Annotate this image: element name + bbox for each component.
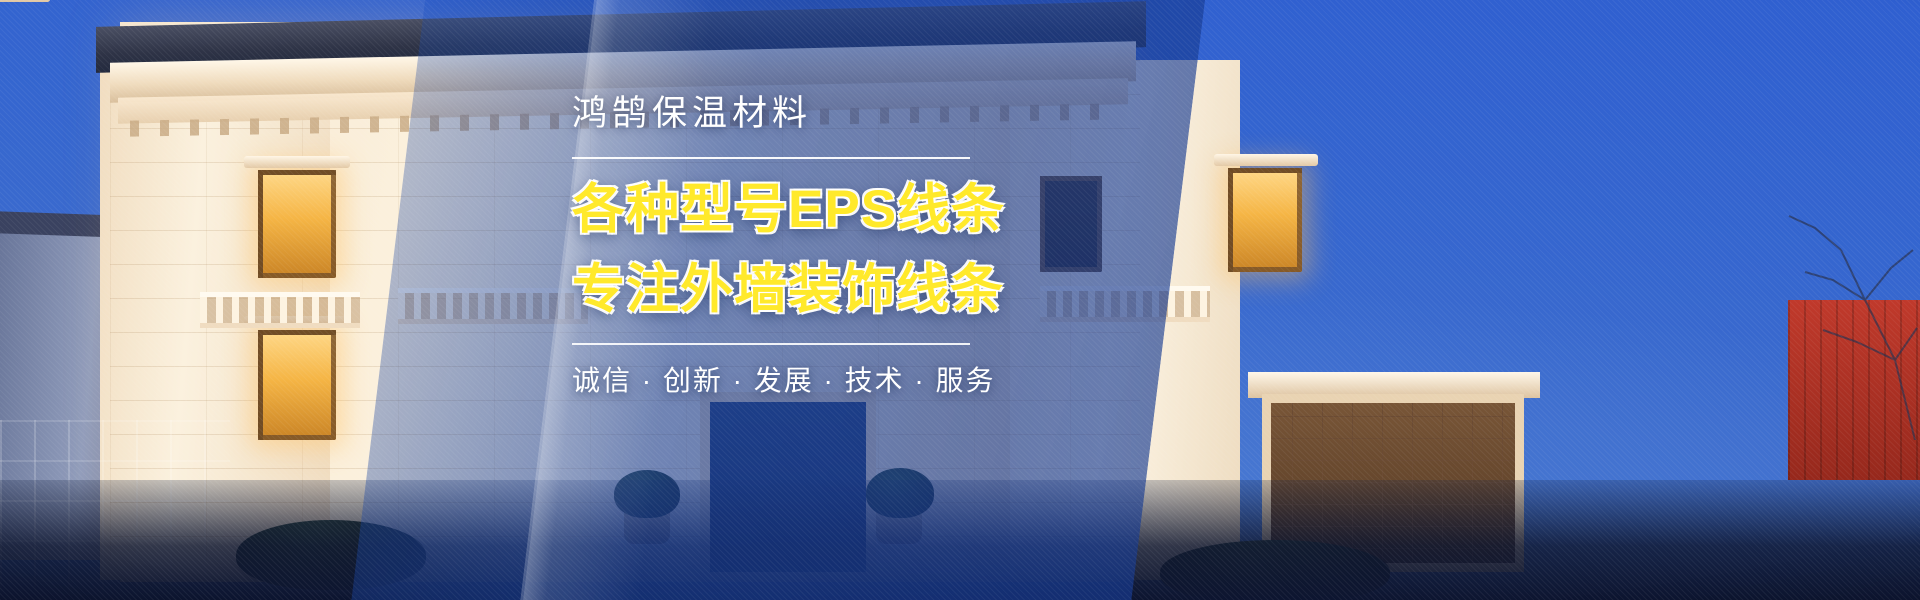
divider-bottom	[572, 343, 970, 345]
column-capital	[0, 0, 50, 2]
headline-line-2: 专注外墙装饰线条	[572, 261, 1002, 319]
window-surround-right-upper	[1214, 154, 1318, 166]
banner-text-block: 鸿鹄保温材料 各种型号EPS线条 专注外墙装饰线条 诚信 · 创新 · 发展 ·…	[572, 96, 1002, 395]
window-upper-left	[258, 170, 336, 278]
window-surround-left-upper	[244, 156, 350, 168]
company-name: 鸿鹄保温材料	[572, 96, 1002, 131]
window-upper-right	[1228, 168, 1302, 272]
headline-line-1: 各种型号EPS线条	[572, 181, 1002, 239]
promotional-banner: 鸿鹄保温材料 各种型号EPS线条 专注外墙装饰线条 诚信 · 创新 · 发展 ·…	[0, 0, 1920, 600]
window-lower-left	[258, 330, 336, 440]
tagline: 诚信 · 创新 · 发展 · 技术 · 服务	[572, 367, 1002, 395]
window-mullion	[1228, 168, 1302, 272]
balustrade-left	[200, 292, 360, 328]
window-mullion	[258, 330, 336, 440]
divider-top	[572, 157, 970, 159]
window-mullion	[258, 170, 336, 278]
bare-tree-icon	[1745, 210, 1920, 440]
